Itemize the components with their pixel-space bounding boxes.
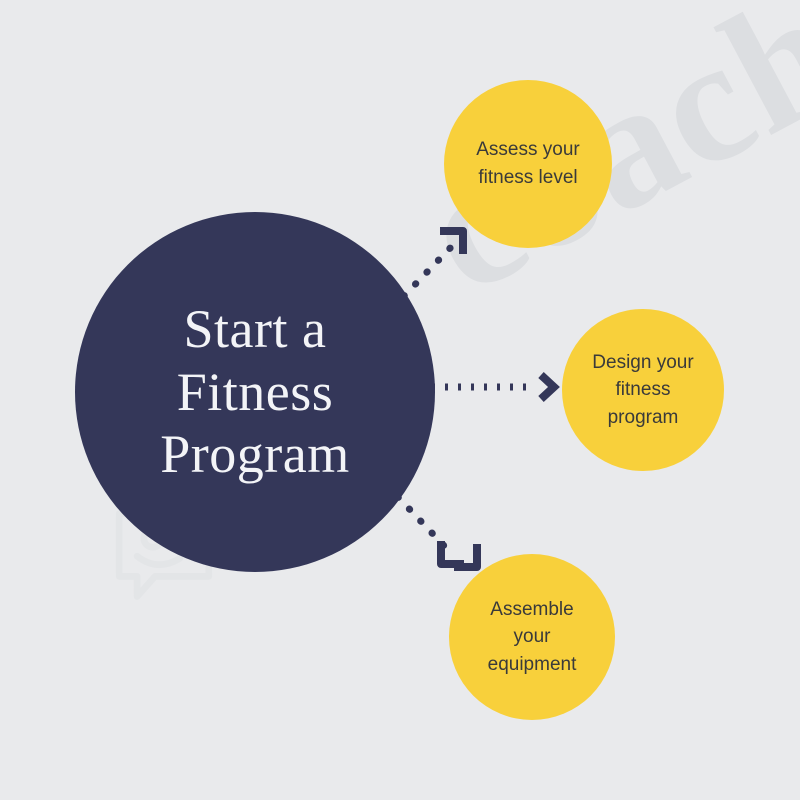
step-node-label-assess: Assess yourfitness level: [456, 136, 599, 191]
diagram-canvas: coach Start aFitnessProgram As: [0, 0, 800, 800]
center-node-start-a-fitness-program[interactable]: Start aFitnessProgram: [75, 212, 435, 572]
step-node-assess-fitness-level[interactable]: Assess yourfitness level: [444, 80, 612, 248]
step-node-design-fitness-program[interactable]: Design yourfitnessprogram: [562, 309, 724, 471]
step-node-label-assemble: Assembleyourequipment: [468, 596, 597, 679]
connector-design: [432, 375, 554, 399]
center-node-label: Start aFitnessProgram: [142, 298, 367, 486]
connector-assemble: [398, 497, 477, 567]
step-node-label-design: Design yourfitnessprogram: [572, 349, 713, 432]
step-node-assemble-equipment[interactable]: Assembleyourequipment: [449, 554, 615, 720]
